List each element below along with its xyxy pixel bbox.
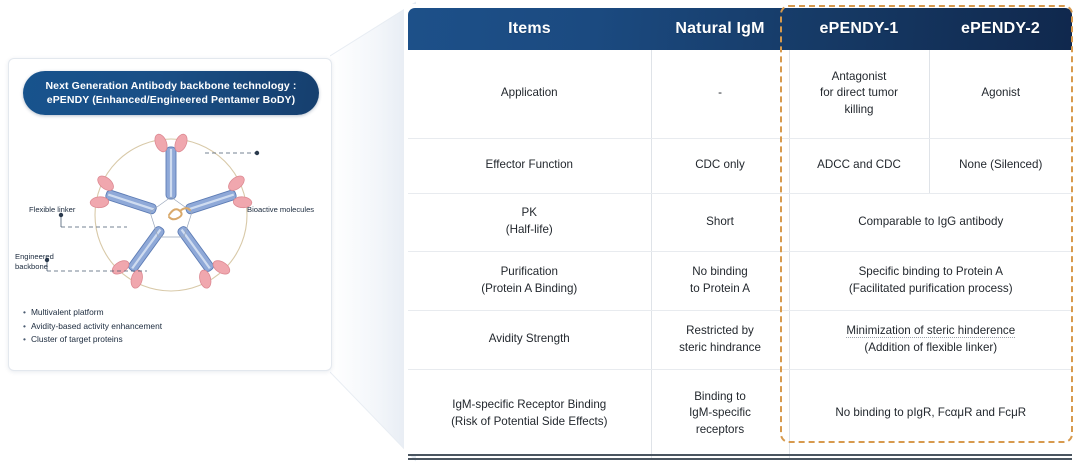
table-row: Avidity Strength Restricted by steric hi…: [408, 310, 1072, 369]
list-item: • Avidity-based activity enhancement: [23, 320, 323, 334]
bullet-marker-icon: •: [23, 333, 26, 347]
cell-line: IgM-specific: [658, 405, 783, 422]
feature-bullet-list: • Multivalent platform • Avidity-based a…: [23, 306, 323, 347]
cell-ependy-merged: Minimization of steric hinderence (Addit…: [789, 310, 1072, 369]
label-engineered-backbone-line-2: backbone: [15, 262, 54, 272]
cell-natural-igm: CDC only: [651, 138, 789, 193]
cell-line: (Facilitated purification process): [796, 281, 1067, 298]
table-header-row: Items Natural IgM ePENDY-1 ePENDY-2: [408, 8, 1072, 50]
bullet-text: Cluster of target proteins: [31, 333, 123, 347]
cell-line: Antagonist: [796, 69, 923, 86]
table-row: IgM-specific Receptor Binding (Risk of P…: [408, 369, 1072, 459]
card-title-line-1: Next Generation Antibody backbone techno…: [46, 79, 297, 93]
cell-line: Specific binding to Protein A: [796, 264, 1067, 281]
table-row: PK (Half-life) Short Comparable to IgG a…: [408, 193, 1072, 251]
cell-line: No binding: [658, 264, 783, 281]
table-row: Purification (Protein A Binding) No bind…: [408, 251, 1072, 310]
cell-line: Restricted by: [658, 323, 783, 340]
flexible-linker-pentagon: [150, 197, 192, 237]
cell-ependy-merged: Comparable to IgG antibody: [789, 193, 1072, 251]
cell-line: to Protein A: [658, 281, 783, 298]
cell-line: steric hindrance: [658, 340, 783, 357]
column-header-natural-igm: Natural IgM: [651, 8, 789, 50]
bullet-text: Multivalent platform: [31, 306, 104, 320]
cell-items: Avidity Strength: [408, 310, 651, 369]
list-item: • Multivalent platform: [23, 306, 323, 320]
table-row: Application - Antagonist for direct tumo…: [408, 50, 1072, 138]
cell-line: Purification: [414, 264, 645, 281]
label-engineered-backbone: Engineered backbone: [15, 252, 54, 272]
cell-natural-igm: Short: [651, 193, 789, 251]
label-engineered-backbone-line-1: Engineered: [15, 252, 54, 262]
cell-line: (Half-life): [414, 222, 645, 239]
list-item: • Cluster of target proteins: [23, 333, 323, 347]
bullet-text: Avidity-based activity enhancement: [31, 320, 162, 334]
table-row: Effector Function CDC only ADCC and CDC …: [408, 138, 1072, 193]
table-bottom-rule: [408, 454, 1072, 456]
cell-line: (Protein A Binding): [414, 281, 645, 298]
misspelled-text: Minimization of steric hinderence: [846, 324, 1015, 338]
cell-line: killing: [796, 102, 923, 119]
cell-ependy-2: None (Silenced): [929, 138, 1072, 193]
comparison-table: Application - Antagonist for direct tumo…: [408, 50, 1072, 460]
cell-line: Minimization of steric hinderence: [796, 323, 1067, 340]
pentamer-antibody-diagram: Flexible linker Engineered backbone Bioa…: [9, 119, 332, 314]
label-bioactive-molecules: Bioactive molecules: [247, 205, 314, 215]
pentamer-diagram-svg: [9, 119, 332, 314]
bullet-marker-icon: •: [23, 306, 26, 320]
cell-items: Purification (Protein A Binding): [408, 251, 651, 310]
cell-items: PK (Half-life): [408, 193, 651, 251]
cell-items: Effector Function: [408, 138, 651, 193]
cell-ependy-1: Antagonist for direct tumor killing: [789, 50, 929, 138]
cell-natural-igm: Restricted by steric hindrance: [651, 310, 789, 369]
cell-natural-igm: Binding to IgM-specific receptors: [651, 369, 789, 459]
cell-ependy-merged: Specific binding to Protein A (Facilitat…: [789, 251, 1072, 310]
cell-line: IgM-specific Receptor Binding: [414, 397, 645, 414]
cell-line: Binding to: [658, 389, 783, 406]
cell-line: for direct tumor: [796, 85, 923, 102]
column-header-items: Items: [408, 8, 651, 50]
column-header-ependy-1: ePENDY-1: [789, 8, 929, 50]
cell-natural-igm: -: [651, 50, 789, 138]
cell-ependy-2: Agonist: [929, 50, 1072, 138]
cell-line: (Risk of Potential Side Effects): [414, 414, 645, 431]
ependy-overview-card: Next Generation Antibody backbone techno…: [8, 58, 332, 371]
card-title-line-2: ePENDY (Enhanced/Engineered Pentamer BoD…: [47, 93, 295, 107]
bullet-marker-icon: •: [23, 320, 26, 334]
label-flexible-linker: Flexible linker: [29, 205, 75, 215]
cell-line: (Addition of flexible linker): [796, 340, 1067, 357]
card-title-banner: Next Generation Antibody backbone techno…: [23, 71, 319, 115]
column-header-ependy-2: ePENDY-2: [929, 8, 1072, 50]
comparison-table-panel: Items Natural IgM ePENDY-1 ePENDY-2 Appl…: [404, 4, 1076, 456]
cell-natural-igm: No binding to Protein A: [651, 251, 789, 310]
cell-items: IgM-specific Receptor Binding (Risk of P…: [408, 369, 651, 459]
cell-line: receptors: [658, 422, 783, 439]
cell-line: PK: [414, 205, 645, 222]
cell-ependy-1: ADCC and CDC: [789, 138, 929, 193]
cell-ependy-merged: No binding to pIgR, FcαμR and FcμR: [789, 369, 1072, 459]
cell-items: Application: [408, 50, 651, 138]
